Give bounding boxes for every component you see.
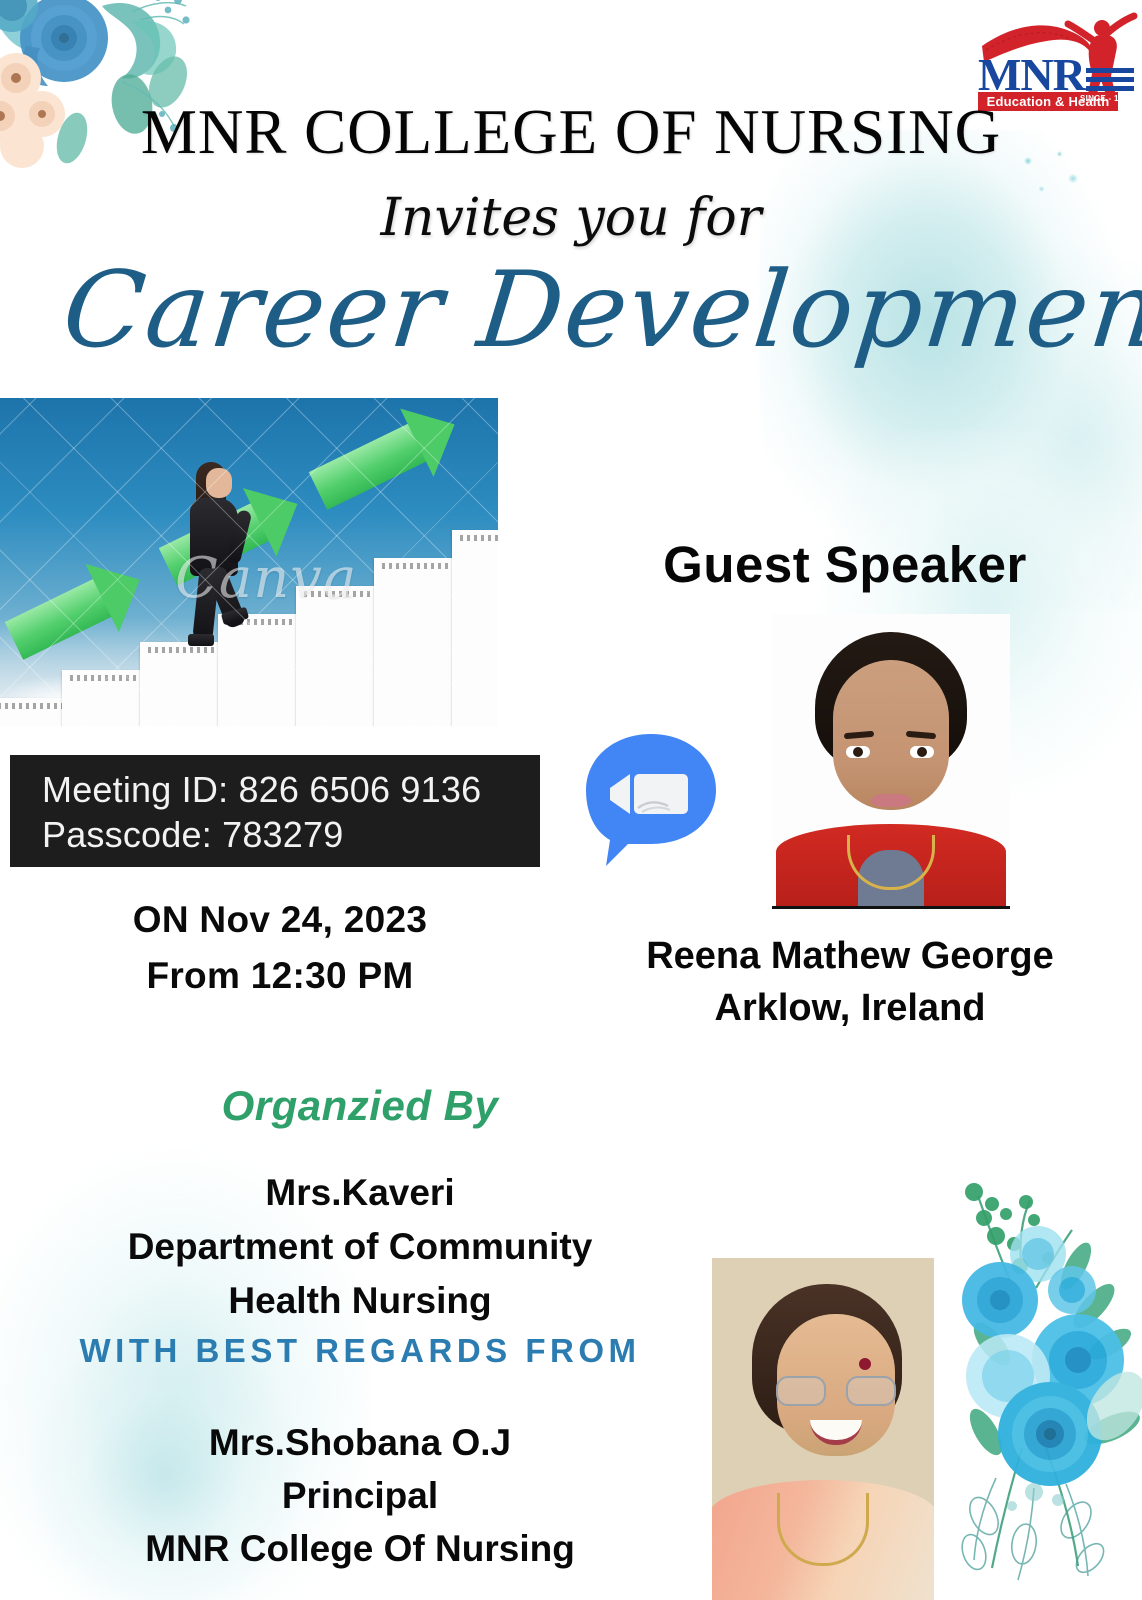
- invites-line: Invites you for: [0, 188, 1142, 248]
- growth-arrow: [309, 423, 428, 510]
- floral-decoration-icon: [926, 1148, 1142, 1600]
- principal-details: Mrs.Shobana O.J Principal MNR College Of…: [30, 1416, 690, 1575]
- principal-institution: MNR College Of Nursing: [30, 1522, 690, 1575]
- meeting-id: Meeting ID: 826 6506 9136: [42, 767, 540, 812]
- mnr-logo-bars: [1086, 68, 1134, 95]
- page-title: MNR COLLEGE OF NURSING: [0, 96, 1142, 169]
- organizer-department-line2: Health Nursing: [40, 1274, 680, 1328]
- career-growth-image: Canva: [0, 398, 498, 726]
- guest-speaker-photo: [772, 614, 1010, 909]
- organizer-name: Mrs.Kaveri: [40, 1166, 680, 1220]
- event-time: From 12:30 PM: [20, 948, 540, 1004]
- organizer-details: Mrs.Kaveri Department of Community Healt…: [40, 1166, 680, 1328]
- meeting-credentials-box: Meeting ID: 826 6506 9136 Passcode: 7832…: [10, 755, 540, 867]
- event-datetime: ON Nov 24, 2023 From 12:30 PM: [20, 892, 540, 1004]
- eyeglasses-icon: [776, 1376, 896, 1402]
- guest-speaker-name: Reena Mathew George: [590, 930, 1110, 982]
- guest-speaker-location: Arklow, Ireland: [590, 982, 1110, 1034]
- principal-photo: [712, 1258, 934, 1600]
- guest-speaker-details: Reena Mathew George Arklow, Ireland: [590, 930, 1110, 1034]
- principal-name: Mrs.Shobana O.J: [30, 1416, 690, 1469]
- google-meet-icon: [576, 728, 726, 870]
- regards-heading: WITH BEST REGARDS FROM: [30, 1332, 690, 1370]
- guest-speaker-heading: Guest Speaker: [610, 535, 1080, 594]
- meeting-passcode: Passcode: 783279: [42, 812, 540, 857]
- event-title: Career Development Programme: [58, 258, 1142, 363]
- organizer-department-line1: Department of Community: [40, 1220, 680, 1274]
- organized-by-heading: Organzied By: [60, 1082, 660, 1130]
- floral-bottom-right: [926, 1148, 1142, 1600]
- principal-designation: Principal: [30, 1469, 690, 1522]
- invitation-poster: MNR Education & Health SINCE - 1974: [0, 0, 1142, 1600]
- event-date: ON Nov 24, 2023: [20, 892, 540, 948]
